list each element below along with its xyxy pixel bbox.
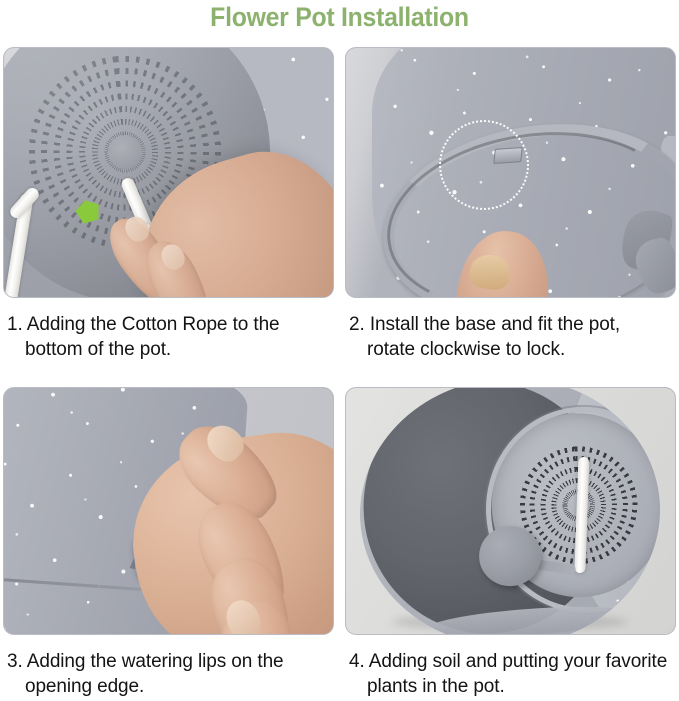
step-4-caption: 4. Adding soil and putting your favorite…	[363, 649, 676, 699]
page-title: Flower Pot Installation	[27, 0, 652, 40]
dotted-circle-highlight	[439, 120, 529, 210]
steps-grid: 1. Adding the Cotton Rope to the bottom …	[3, 47, 676, 701]
step-1-caption: 1. Adding the Cotton Rope to the bottom …	[21, 312, 334, 362]
step-1-photo	[3, 47, 334, 298]
step-3-caption: 3. Adding the watering lips on the openi…	[21, 649, 334, 699]
step-3: 3. Adding the watering lips on the openi…	[3, 387, 334, 699]
step-1: 1. Adding the Cotton Rope to the bottom …	[3, 47, 334, 362]
step-3-photo	[3, 387, 334, 635]
infographic-sheet: Flower Pot Installation	[0, 0, 679, 701]
step-2-caption: 2. Install the base and fit the pot, rot…	[363, 312, 676, 362]
step-2: 2. Install the base and fit the pot, rot…	[345, 47, 676, 362]
step-2-photo	[345, 47, 676, 298]
step-4-photo	[345, 387, 676, 635]
pot-outer	[351, 387, 669, 635]
step-4: 4. Adding soil and putting your favorite…	[345, 387, 676, 699]
